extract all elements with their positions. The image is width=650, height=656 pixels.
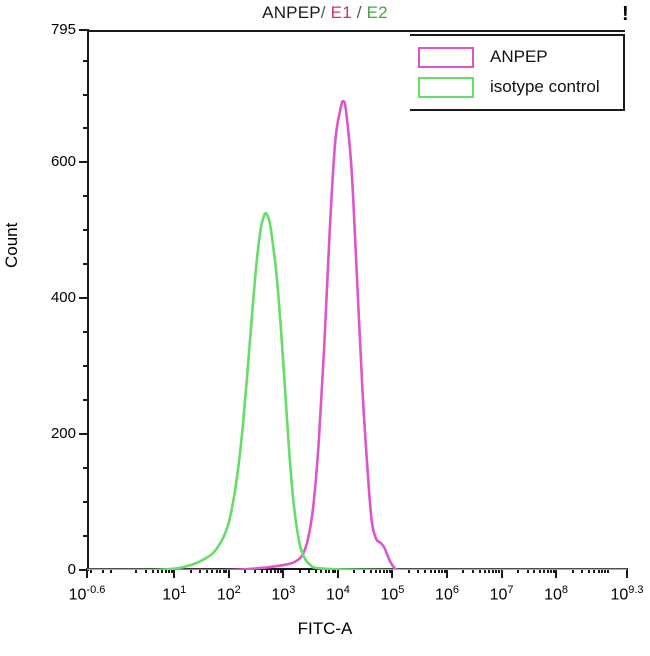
x-tick-minor — [102, 568, 104, 573]
x-tick-minor — [270, 568, 272, 573]
x-tick-minor — [363, 568, 365, 573]
x-tick-label: 101 — [162, 584, 186, 604]
x-tick-minor — [598, 568, 600, 573]
chart-title: ANPEP/ E1 / E2 — [0, 3, 650, 23]
x-tick-minor — [216, 568, 218, 573]
x-tick-minor — [547, 568, 549, 573]
legend-item-isotype-control[interactable]: isotype control — [410, 72, 619, 102]
x-tick-minor — [572, 568, 574, 573]
y-tick-minor — [83, 263, 89, 265]
legend-label-isotype-control: isotype control — [490, 77, 600, 97]
x-tick-minor — [553, 568, 555, 573]
x-tick-minor — [434, 568, 436, 573]
y-tick-minor — [83, 94, 89, 96]
y-tick-minor — [83, 535, 89, 537]
x-tick-minor — [223, 568, 225, 573]
x-tick-minor — [593, 568, 595, 573]
x-tick-minor — [462, 568, 464, 573]
x-tick-minor — [315, 568, 317, 573]
y-axis-title: Count — [2, 223, 22, 268]
y-tick-minor — [83, 501, 89, 503]
y-tick-label: 200 — [51, 425, 76, 442]
y-tick-label: 400 — [51, 289, 76, 306]
x-tick-minor — [244, 568, 246, 573]
x-tick-minor — [488, 568, 490, 573]
x-tick-minor — [328, 568, 330, 573]
x-tick-minor — [199, 568, 201, 573]
x-tick-label: 102 — [217, 584, 241, 604]
legend: ANPEP isotype control — [410, 34, 625, 111]
x-tick-minor — [492, 568, 494, 573]
x-tick-minor — [479, 568, 481, 573]
x-tick-minor — [332, 568, 334, 573]
x-tick-minor — [517, 568, 519, 573]
title-part-0: ANPEP — [262, 3, 321, 22]
x-tick-minor — [601, 568, 603, 573]
y-tick-major — [79, 161, 89, 163]
x-tick-major — [391, 568, 393, 578]
x-tick-minor — [441, 568, 443, 573]
x-tick-major — [86, 568, 88, 578]
y-tick-minor — [83, 331, 89, 333]
x-tick-minor — [379, 568, 381, 573]
x-tick-label: 10-0.6 — [69, 584, 106, 604]
x-tick-label: 107 — [490, 584, 514, 604]
y-tick-major — [79, 433, 89, 435]
x-tick-minor — [325, 568, 327, 573]
y-tick-label: 600 — [51, 153, 76, 170]
x-tick-major — [282, 568, 284, 578]
y-tick-major — [79, 29, 89, 31]
x-tick-minor — [206, 568, 208, 573]
x-tick-label: 105 — [380, 584, 404, 604]
x-tick-minor — [386, 568, 388, 573]
x-tick-minor — [168, 568, 170, 573]
x-tick-minor — [581, 568, 583, 573]
x-tick-minor — [161, 568, 163, 573]
x-tick-label: 109.3 — [610, 584, 643, 604]
x-tick-minor — [280, 568, 282, 573]
x-tick-label: 104 — [326, 584, 350, 604]
x-tick-minor — [430, 568, 432, 573]
legend-label-anpep: ANPEP — [490, 47, 548, 67]
x-tick-minor — [444, 568, 446, 573]
y-tick-minor — [83, 365, 89, 367]
x-tick-minor — [353, 568, 355, 573]
x-tick-label: 103 — [271, 584, 295, 604]
x-tick-label: 106 — [435, 584, 459, 604]
x-tick-minor — [389, 568, 391, 573]
x-tick-minor — [277, 568, 279, 573]
x-tick-minor — [495, 568, 497, 573]
x-tick-major — [173, 568, 175, 578]
x-tick-minor — [498, 568, 500, 573]
x-tick-major — [337, 568, 339, 578]
x-tick-minor — [604, 568, 606, 573]
x-tick-minor — [211, 568, 213, 573]
x-tick-minor — [375, 568, 377, 573]
x-tick-major — [555, 568, 557, 578]
x-tick-minor — [334, 568, 336, 573]
x-tick-major — [501, 568, 503, 578]
y-tick-minor — [83, 399, 89, 401]
x-tick-minor — [588, 568, 590, 573]
x-tick-minor — [261, 568, 263, 573]
x-tick-minor — [370, 568, 372, 573]
x-tick-major — [228, 568, 230, 578]
x-tick-major — [446, 568, 448, 578]
warning-exclamation-icon: ! — [622, 4, 629, 24]
plot-area — [87, 30, 625, 570]
y-tick-minor — [83, 467, 89, 469]
x-tick-minor — [424, 568, 426, 573]
x-tick-minor — [145, 568, 147, 573]
y-tick-minor — [83, 60, 89, 62]
x-tick-minor — [533, 568, 535, 573]
x-tick-minor — [254, 568, 256, 573]
x-tick-minor — [408, 568, 410, 573]
x-tick-minor — [157, 568, 159, 573]
x-tick-minor — [472, 568, 474, 573]
y-tick-minor — [83, 229, 89, 231]
y-tick-label: 795 — [51, 21, 76, 38]
x-tick-minor — [165, 568, 167, 573]
x-tick-minor — [438, 568, 440, 573]
legend-swatch-isotype-control — [418, 77, 474, 98]
x-tick-minor — [417, 568, 419, 573]
x-tick-minor — [484, 568, 486, 573]
x-axis-title: FITC-A — [0, 619, 650, 639]
title-part-2: E1 — [326, 3, 357, 22]
x-tick-label: 108 — [544, 584, 568, 604]
y-tick-minor — [83, 195, 89, 197]
x-tick-minor — [225, 568, 227, 573]
x-tick-minor — [190, 568, 192, 573]
x-tick-minor — [383, 568, 385, 573]
x-tick-minor — [543, 568, 545, 573]
x-tick-minor — [539, 568, 541, 573]
x-tick-minor — [299, 568, 301, 573]
x-tick-minor — [274, 568, 276, 573]
y-tick-major — [79, 297, 89, 299]
x-tick-minor — [135, 568, 137, 573]
x-tick-minor — [550, 568, 552, 573]
y-tick-label: 0 — [68, 561, 76, 578]
y-tick-minor — [83, 127, 89, 129]
x-tick-minor — [90, 568, 92, 573]
legend-swatch-anpep — [418, 47, 474, 68]
y-axis-line — [87, 30, 89, 570]
title-part-4: E2 — [362, 3, 388, 22]
x-tick-minor — [607, 568, 609, 573]
legend-item-anpep[interactable]: ANPEP — [410, 42, 619, 72]
x-tick-minor — [266, 568, 268, 573]
x-tick-major — [626, 568, 628, 578]
x-tick-minor — [171, 568, 173, 573]
x-tick-minor — [320, 568, 322, 573]
x-tick-minor — [110, 568, 112, 573]
x-tick-minor — [219, 568, 221, 573]
x-tick-minor — [152, 568, 154, 573]
x-tick-minor — [308, 568, 310, 573]
x-tick-minor — [527, 568, 529, 573]
